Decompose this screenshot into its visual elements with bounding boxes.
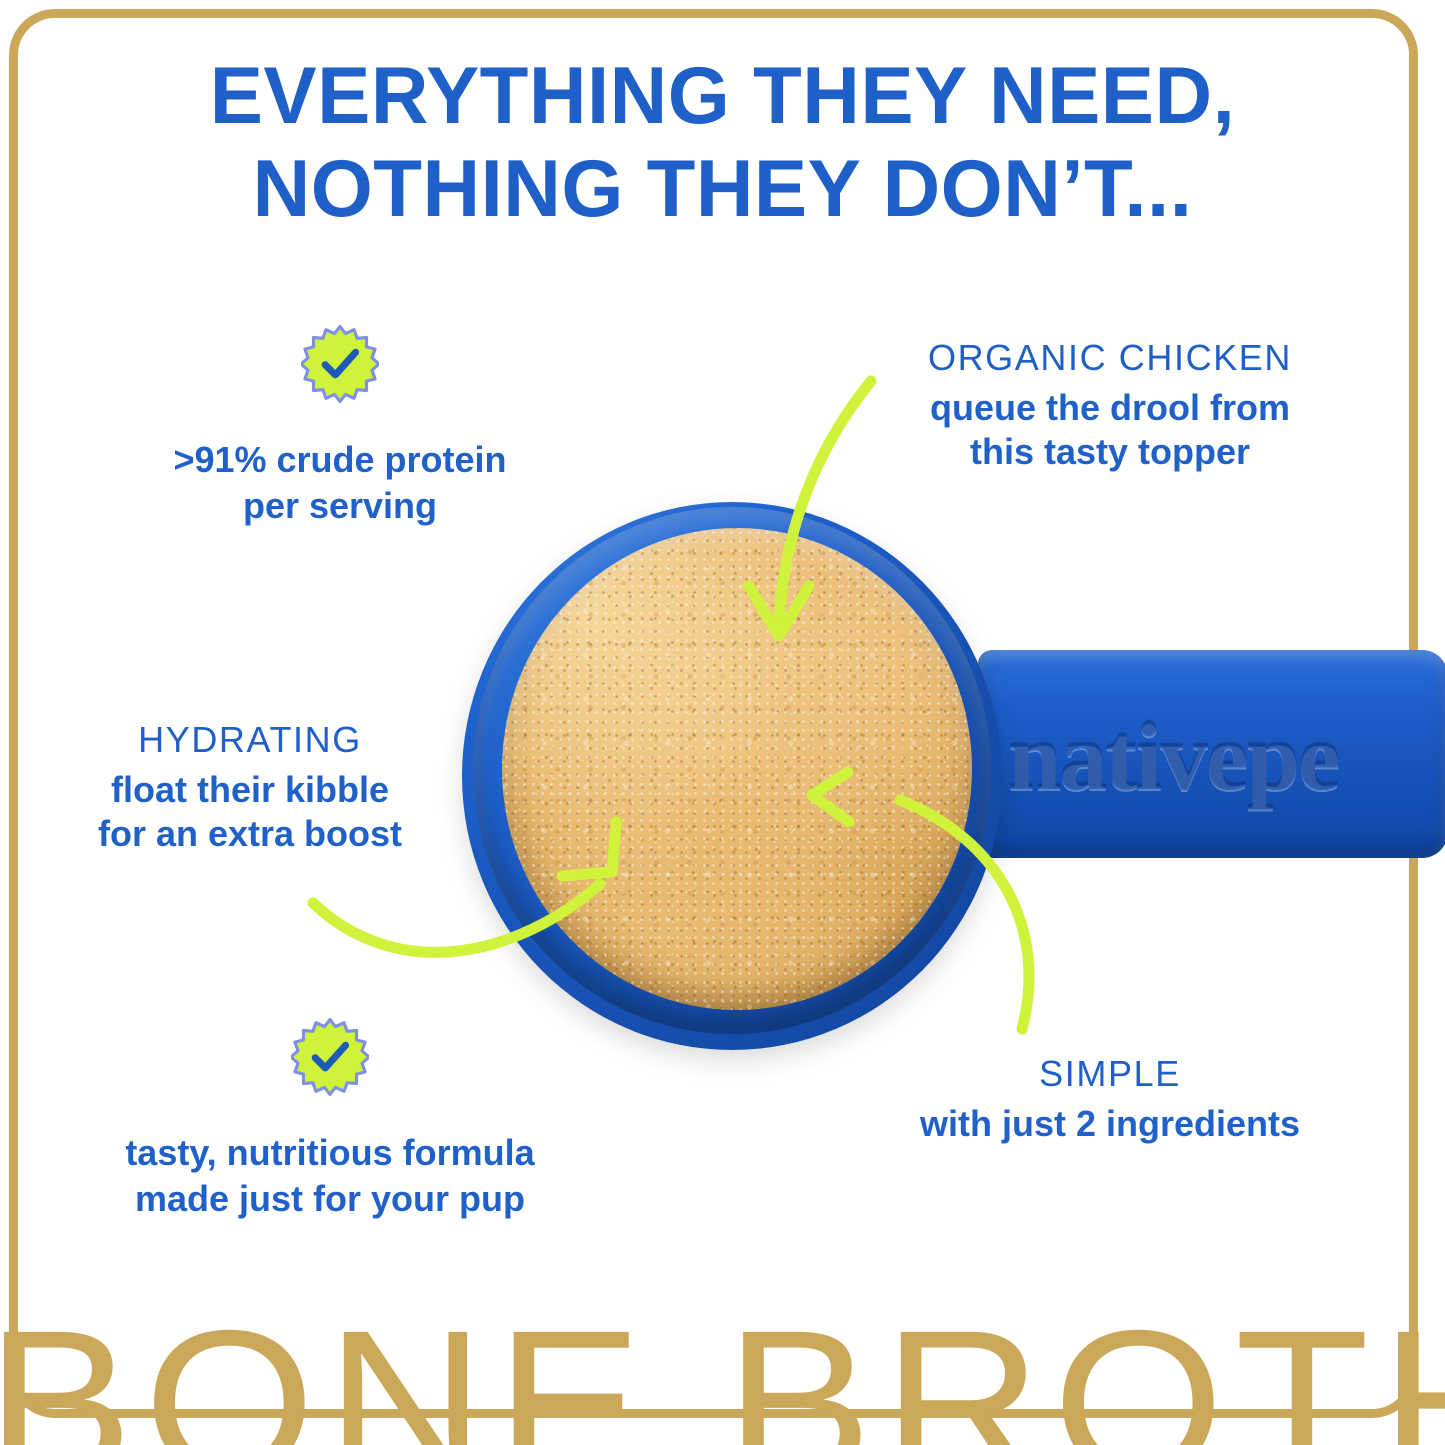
callout-hydrating-body: float their kibble for an extra boost xyxy=(50,768,450,856)
check-badge-icon xyxy=(291,1018,369,1096)
callout-protein: >91% crude protein per serving xyxy=(120,325,560,529)
product-photo-scoop: nativepe xyxy=(438,478,1445,1088)
headline-line-1: EVERYTHING THEY NEED, xyxy=(11,56,1434,137)
callout-hydrating-title: HYDRATING xyxy=(50,718,450,762)
headline-line-2: NOTHING THEY DON’T... xyxy=(11,149,1434,230)
callout-simple-title: SIMPLE xyxy=(900,1052,1320,1096)
callout-simple-line-1: with just 2 ingredients xyxy=(900,1102,1320,1146)
callout-formula: tasty, nutritious formula made just for … xyxy=(85,1018,575,1222)
callout-formula-line-2: made just for your pup xyxy=(85,1176,575,1222)
callout-organic-chicken-line-2: this tasty topper xyxy=(890,430,1330,474)
brand-emboss-text: nativepe xyxy=(1008,702,1445,812)
scoop-handle: nativepe xyxy=(978,650,1445,858)
callout-formula-text: tasty, nutritious formula made just for … xyxy=(85,1130,575,1222)
callout-organic-chicken-body: queue the drool from this tasty topper xyxy=(890,386,1330,474)
callout-protein-text: >91% crude protein per serving xyxy=(120,437,560,529)
callout-hydrating-line-2: for an extra boost xyxy=(50,812,450,856)
check-badge-icon xyxy=(301,325,379,403)
callout-organic-chicken: ORGANIC CHICKEN queue the drool from thi… xyxy=(890,336,1330,474)
bone-broth-powder xyxy=(502,528,972,1010)
callout-organic-chicken-title: ORGANIC CHICKEN xyxy=(890,336,1330,380)
callout-organic-chicken-line-1: queue the drool from xyxy=(890,386,1330,430)
callout-simple-body: with just 2 ingredients xyxy=(900,1102,1320,1146)
product-name-wordmark: BONE BROTH xyxy=(0,1300,1445,1445)
scoop-bowl xyxy=(462,502,1002,1050)
page-headline: EVERYTHING THEY NEED, NOTHING THEY DON’T… xyxy=(0,56,1445,242)
callout-formula-line-1: tasty, nutritious formula xyxy=(85,1130,575,1176)
callout-hydrating: HYDRATING float their kibble for an extr… xyxy=(50,718,450,856)
callout-hydrating-line-1: float their kibble xyxy=(50,768,450,812)
callout-protein-line-2: per serving xyxy=(120,483,560,529)
callout-protein-line-1: >91% crude protein xyxy=(120,437,560,483)
callout-simple: SIMPLE with just 2 ingredients xyxy=(900,1052,1320,1146)
product-infographic: EVERYTHING THEY NEED, NOTHING THEY DON’T… xyxy=(0,0,1445,1445)
